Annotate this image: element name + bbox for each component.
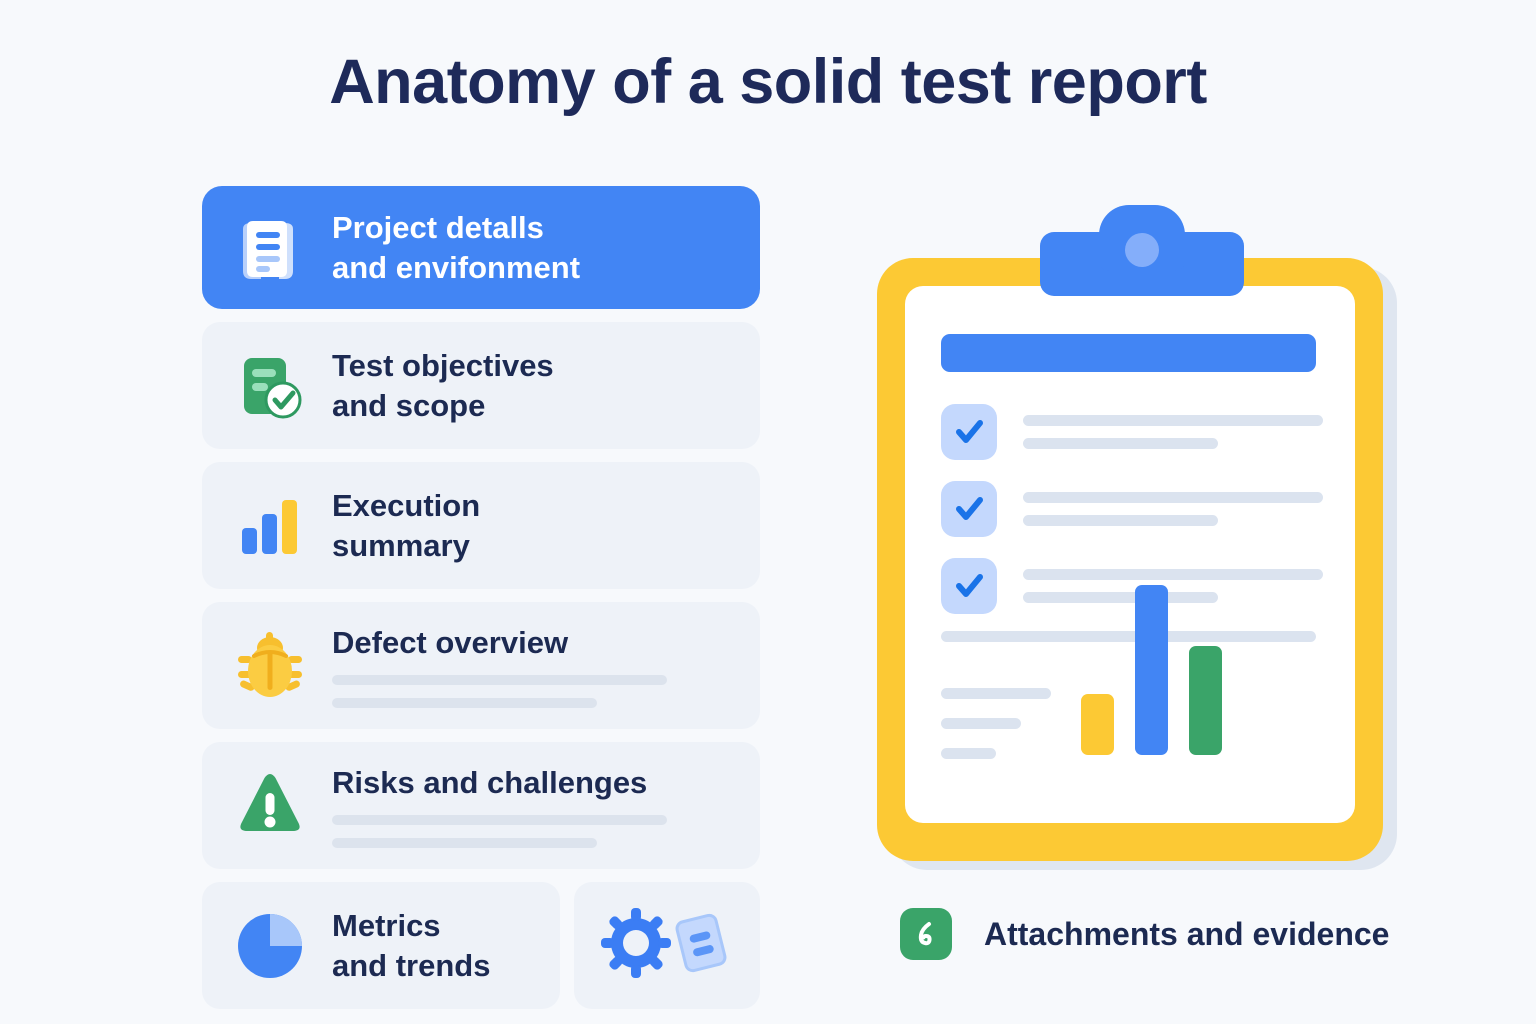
placeholder-line — [1023, 438, 1218, 449]
placeholder-line — [1023, 569, 1323, 580]
paperclip-icon — [900, 908, 952, 960]
placeholder-line — [941, 748, 996, 759]
report-sections-list: Project detalls and envifonment Test obj… — [202, 186, 760, 1009]
clipboard-page — [905, 286, 1355, 823]
bug-icon — [224, 620, 316, 712]
mini-bar-2 — [1135, 585, 1168, 755]
checkbox-checked-icon[interactable] — [941, 481, 997, 537]
section-card-defect-overview[interactable]: Defect overview — [202, 602, 760, 729]
pie-chart-icon — [224, 900, 316, 992]
checklist-row[interactable] — [941, 481, 1323, 537]
placeholder-line — [1023, 492, 1323, 503]
placeholder-line — [1023, 415, 1323, 426]
mini-bar-3 — [1189, 646, 1222, 755]
section-label: Execution summary — [332, 486, 738, 565]
document-check-icon — [224, 340, 316, 432]
page-title: Anatomy of a solid test report — [0, 48, 1536, 117]
placeholder-line — [332, 838, 597, 848]
checklist-row[interactable] — [941, 404, 1323, 460]
checkbox-checked-icon[interactable] — [941, 558, 997, 614]
section-card-project-details[interactable]: Project detalls and envifonment — [202, 186, 760, 309]
checklist-row-lines — [1023, 492, 1323, 526]
section-body: Metrics and trends — [332, 906, 538, 985]
bar-chart-icon — [224, 480, 316, 572]
attachments-row[interactable]: Attachments and evidence — [900, 908, 1389, 960]
bottom-cards-row: Metrics and trends — [202, 882, 760, 1009]
clipboard-clip-hole — [1125, 233, 1159, 267]
section-label: Metrics and trends — [332, 906, 538, 985]
placeholder-line — [332, 675, 667, 685]
section-body: Test objectives and scope — [332, 346, 738, 425]
attachments-label: Attachments and evidence — [984, 916, 1389, 953]
clipboard-frame — [877, 258, 1383, 861]
warning-triangle-icon — [224, 760, 316, 852]
placeholder-line — [332, 698, 597, 708]
checklist-row-lines — [1023, 415, 1323, 449]
placeholder-line — [941, 688, 1051, 699]
section-body: Project detalls and envifonment — [332, 208, 738, 287]
section-body: Execution summary — [332, 486, 738, 565]
placeholder-line — [332, 815, 667, 825]
checkbox-checked-icon[interactable] — [941, 404, 997, 460]
tilted-document-icon — [668, 910, 734, 981]
placeholder-line — [1023, 515, 1218, 526]
placeholder-line — [941, 718, 1021, 729]
section-label: Defect overview — [332, 623, 738, 663]
section-card-risks-challenges[interactable]: Risks and challenges — [202, 742, 760, 869]
mini-bar-1 — [1081, 694, 1114, 755]
section-label: Risks and challenges — [332, 763, 738, 803]
section-label: Test objectives and scope — [332, 346, 738, 425]
gear-icon — [600, 907, 672, 984]
section-card-metrics-trends[interactable]: Metrics and trends — [202, 882, 560, 1009]
section-body: Defect overview — [332, 623, 738, 709]
section-body: Risks and challenges — [332, 763, 738, 849]
mini-bar-chart — [1081, 585, 1251, 755]
section-card-execution-summary[interactable]: Execution summary — [202, 462, 760, 589]
tools-card[interactable] — [574, 882, 760, 1009]
section-card-test-objectives[interactable]: Test objectives and scope — [202, 322, 760, 449]
clipboard-illustration — [877, 205, 1397, 870]
document-title-bar — [941, 334, 1316, 372]
document-lines-icon — [224, 202, 316, 294]
section-label: Project detalls and envifonment — [332, 208, 738, 287]
